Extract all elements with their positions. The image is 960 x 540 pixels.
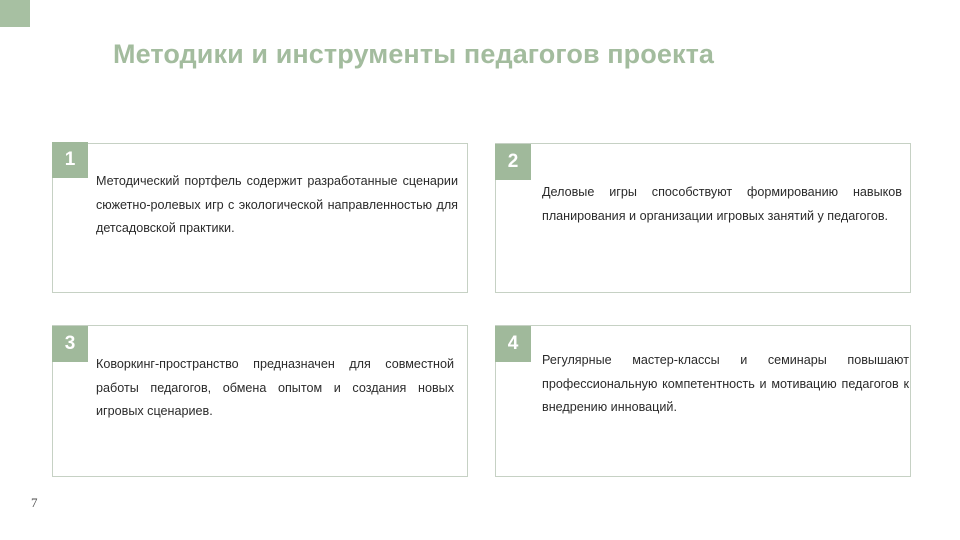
card-body-text: Коворкинг-пространство предназначен для …	[96, 353, 454, 424]
card-body-text: Методический портфель содержит разработа…	[96, 170, 458, 241]
card-body-text: Регулярные мастер-классы и семинары повы…	[542, 349, 909, 420]
page-number: 7	[31, 495, 38, 511]
slide-canvas: Методики и инструменты педагогов проекта…	[0, 0, 960, 540]
card-number-badge: 2	[495, 144, 531, 180]
card-number-badge: 3	[52, 326, 88, 362]
card-number-badge: 1	[52, 142, 88, 178]
card-number-badge: 4	[495, 326, 531, 362]
card-body-text: Деловые игры способствуют формированию н…	[542, 181, 902, 228]
card-grid: 1 Методический портфель содержит разрабо…	[0, 0, 960, 540]
